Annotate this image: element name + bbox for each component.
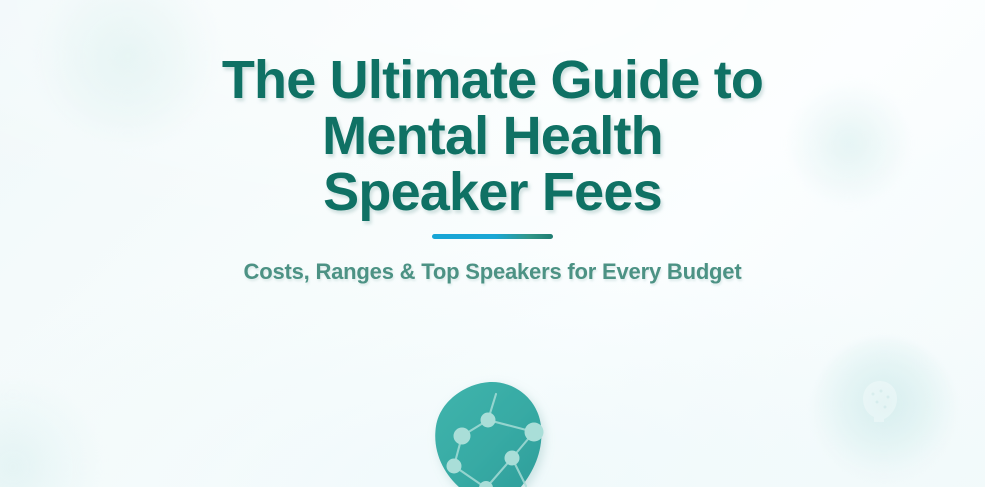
- hero-copy: The Ultimate Guide to Mental Health Spea…: [0, 0, 985, 285]
- decorative-blob-bottom-right: [812, 338, 956, 482]
- headline-line-3: Speaker Fees: [0, 164, 985, 220]
- hero-banner: The Ultimate Guide to Mental Health Spea…: [0, 0, 985, 487]
- page-subtitle: Costs, Ranges & Top Speakers for Every B…: [0, 259, 985, 285]
- brain-illustration: [424, 374, 560, 487]
- headline-line-1: The Ultimate Guide to: [0, 52, 985, 108]
- page-title: The Ultimate Guide to Mental Health Spea…: [0, 52, 985, 220]
- head-neural-network-icon: [424, 374, 560, 487]
- ghost-head-icon: [857, 378, 903, 422]
- decorative-blob-bottom-left: [0, 382, 98, 487]
- headline-line-2: Mental Health: [0, 108, 985, 164]
- accent-underline-rule: [432, 234, 553, 239]
